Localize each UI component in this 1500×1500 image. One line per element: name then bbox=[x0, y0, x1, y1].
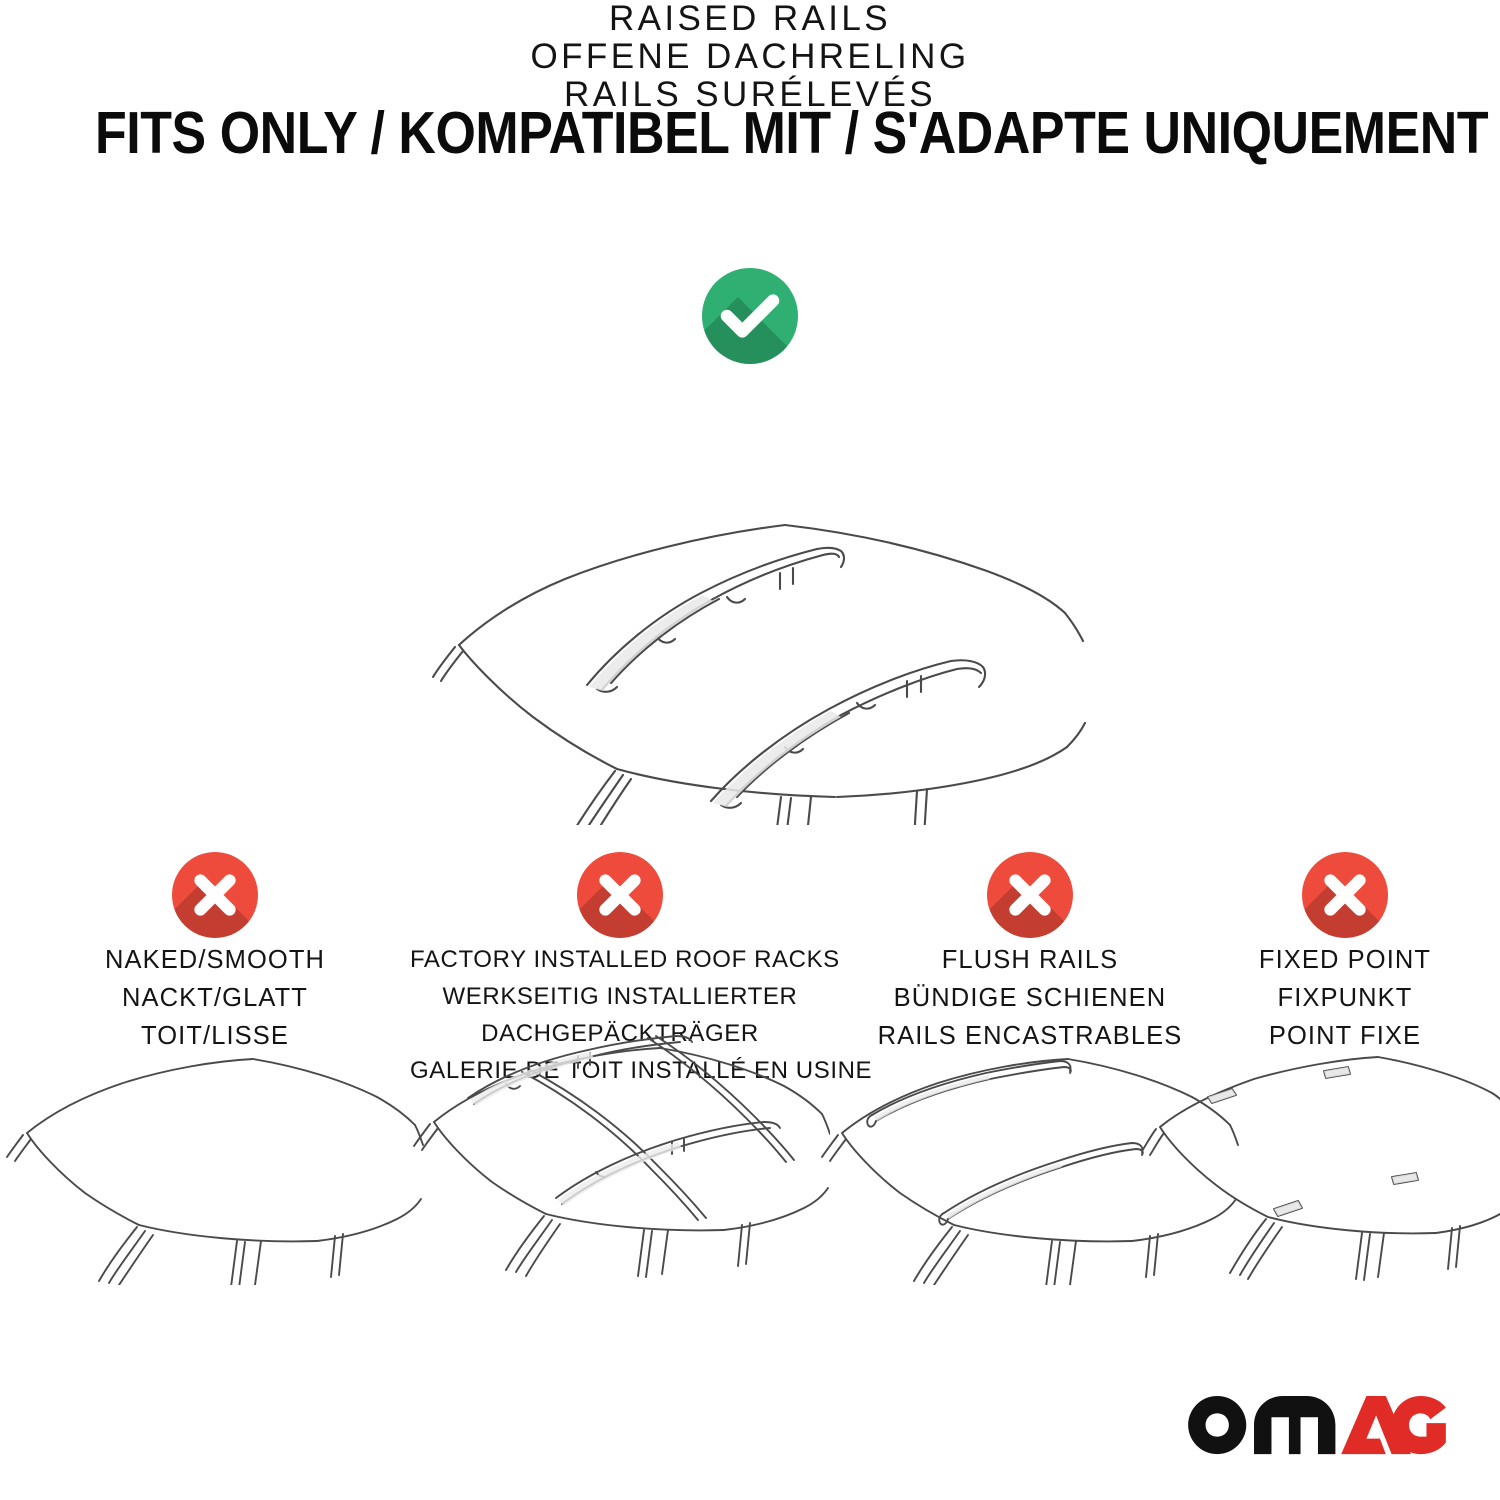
omac-logo bbox=[1182, 1394, 1452, 1456]
cross-circle-icon bbox=[1302, 852, 1388, 938]
column-label-line-3: TOIT/LISSE bbox=[5, 1022, 425, 1050]
column-label-line-1: FACTORY INSTALLED ROOF RACKS bbox=[410, 946, 830, 973]
cross-circle-icon bbox=[577, 852, 663, 938]
icon-holder bbox=[410, 840, 830, 936]
car-roof-fixed-point-illustration bbox=[1140, 1055, 1500, 1285]
icon-holder bbox=[5, 840, 425, 936]
car-roof-naked-smooth-illustration bbox=[5, 1055, 425, 1285]
cross-circle-icon bbox=[172, 852, 258, 938]
column-label-line-2: WERKSEITIG INSTALLIERTER bbox=[410, 983, 830, 1010]
column-label-line-1: NAKED/SMOOTH bbox=[5, 946, 425, 974]
compatible-label-block: RAISED RAILS OFFENE DACHRELING RAILS SUR… bbox=[0, 0, 1500, 114]
compatible-label-line-3: RAILS SURÉLEVÉS bbox=[0, 76, 1500, 114]
incompatible-column-fixed-point: FIXED POINT FIXPUNKT POINT FIXE bbox=[1135, 840, 1500, 1050]
column-label-line-1: FIXED POINT bbox=[1135, 946, 1500, 974]
column-label-line-2: NACKT/GLATT bbox=[5, 984, 425, 1012]
incompatible-column-naked-smooth: NAKED/SMOOTH NACKT/GLATT TOIT/LISSE bbox=[5, 840, 425, 1050]
column-label-line-2: FIXPUNKT bbox=[1135, 984, 1500, 1012]
car-roof-with-raised-rails-illustration bbox=[425, 505, 1095, 825]
compatible-label-line-1: RAISED RAILS bbox=[0, 0, 1500, 38]
car-roof-factory-roof-racks-illustration bbox=[410, 1030, 830, 1260]
compatible-label-line-2: OFFENE DACHRELING bbox=[0, 38, 1500, 76]
cross-circle-icon bbox=[987, 852, 1073, 938]
column-label-line-3: POINT FIXE bbox=[1135, 1022, 1500, 1050]
check-circle-icon bbox=[702, 268, 798, 364]
incompatible-column-factory-roof-racks: FACTORY INSTALLED ROOF RACKS WERKSEITIG … bbox=[410, 840, 830, 1084]
icon-holder bbox=[1135, 840, 1500, 936]
